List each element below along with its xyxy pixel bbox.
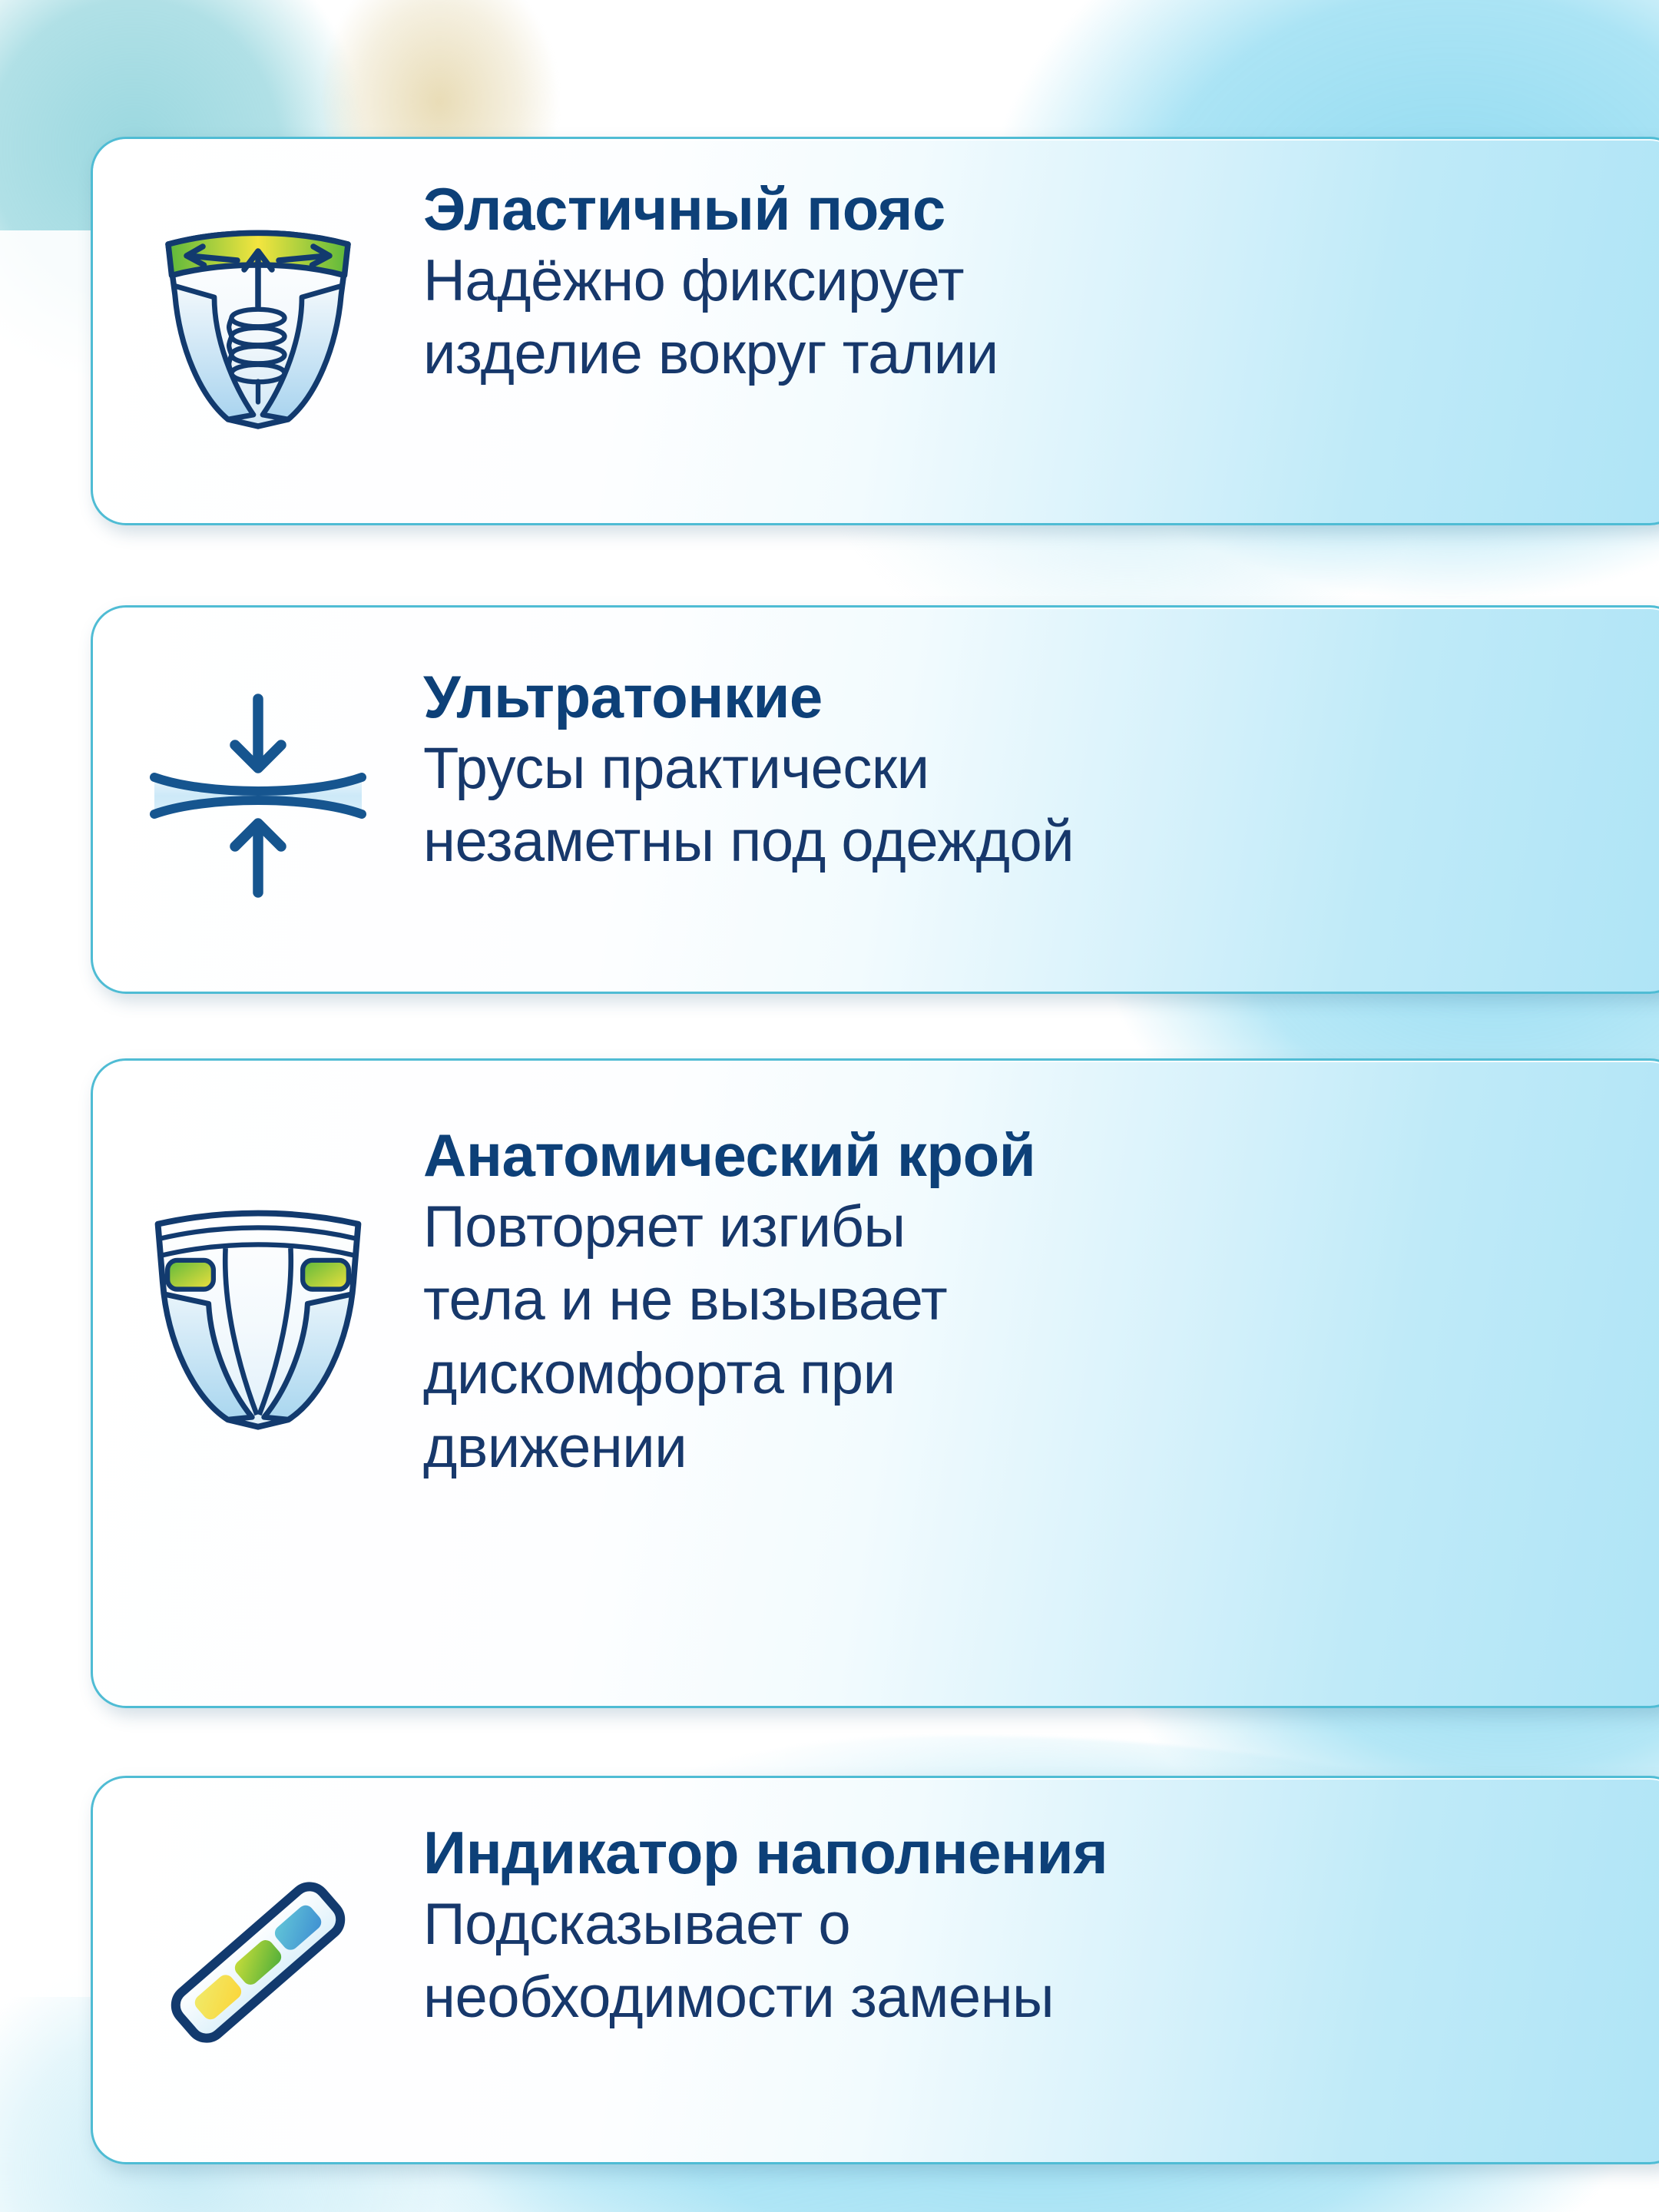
card-text-block: Ультратонкие Трусы практически незаметны… bbox=[423, 608, 1659, 879]
card-description: Подсказывает о необходимости замены bbox=[423, 1888, 1637, 2035]
card-title: Анатомический крой bbox=[423, 1124, 1637, 1187]
card-description-line: Надёжно фиксирует bbox=[423, 248, 964, 313]
card-description-line: тела и не вызывает bbox=[423, 1267, 947, 1333]
wetness-indicator-strip-icon bbox=[93, 1778, 423, 2131]
card-text-block: Индикатор наполнения Подсказывает о необ… bbox=[423, 1778, 1659, 2035]
card-text-block: Эластичный пояс Надёжно фиксирует издели… bbox=[423, 139, 1659, 391]
card-description-line: дискомфорта при bbox=[423, 1341, 896, 1406]
card-title: Индикатор наполнения bbox=[423, 1821, 1637, 1885]
feature-card-list: Эластичный пояс Надёжно фиксирует издели… bbox=[0, 0, 1659, 2212]
thin-layer-compression-icon bbox=[93, 608, 423, 961]
card-description: Трусы практически незаметны под одеждой bbox=[423, 732, 1637, 879]
card-description-line: Подсказывает о bbox=[423, 1892, 850, 1957]
card-description-line: движении bbox=[423, 1415, 687, 1480]
card-title: Эластичный пояс bbox=[423, 177, 1637, 241]
card-text-block: Анатомический крой Повторяет изгибы тела… bbox=[423, 1061, 1659, 1485]
feature-benefits-infographic: Эластичный пояс Надёжно фиксирует издели… bbox=[0, 0, 1659, 2212]
card-description: Надёжно фиксирует изделие вокруг талии bbox=[423, 244, 1637, 392]
feature-card-fill-indicator: Индикатор наполнения Подсказывает о необ… bbox=[91, 1776, 1659, 2164]
diaper-anatomical-icon bbox=[93, 1061, 423, 1537]
card-description-line: Повторяет изгибы bbox=[423, 1194, 906, 1260]
card-description-line: Трусы практически bbox=[423, 736, 929, 801]
card-title: Ультратонкие bbox=[423, 665, 1637, 729]
card-description: Повторяет изгибы тела и не вызывает диск… bbox=[423, 1190, 1637, 1485]
card-description-line: незаметны под одеждой bbox=[423, 809, 1074, 874]
feature-card-elastic-waistband: Эластичный пояс Надёжно фиксирует издели… bbox=[91, 137, 1659, 525]
card-description-line: изделие вокруг талии bbox=[423, 321, 998, 386]
card-description-line: необходимости замены bbox=[423, 1965, 1054, 2030]
feature-card-ultra-thin: Ультратонкие Трусы практически незаметны… bbox=[91, 605, 1659, 994]
underwear-elastic-waistband-icon bbox=[93, 139, 423, 492]
feature-card-anatomical-cut: Анатомический крой Повторяет изгибы тела… bbox=[91, 1058, 1659, 1708]
